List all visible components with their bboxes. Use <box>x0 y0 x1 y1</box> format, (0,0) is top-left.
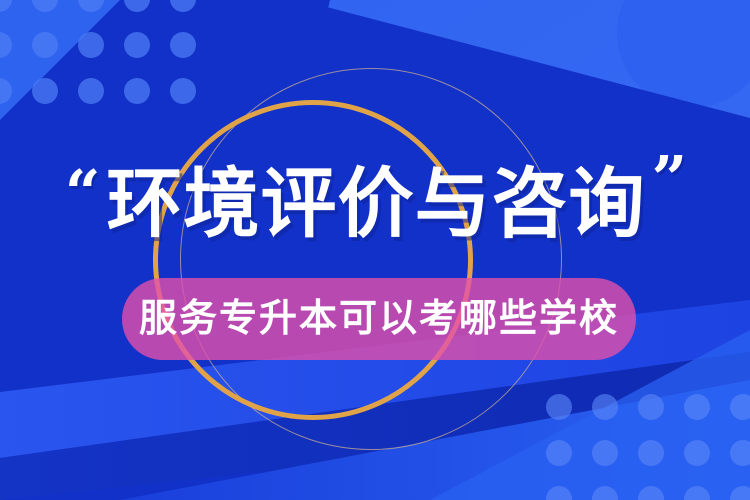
headline-row: “ 环境评价与咨询 ” <box>0 146 750 264</box>
dot <box>170 78 196 104</box>
opening-quote-mark: “ <box>65 162 99 224</box>
subtitle-pill: 服务专升本可以考哪些学校 <box>122 278 636 360</box>
dot <box>32 32 58 58</box>
subtitle-text: 服务专升本可以考哪些学校 <box>139 300 619 338</box>
dot <box>78 78 104 104</box>
dot <box>730 394 750 420</box>
dot <box>638 394 664 420</box>
dot <box>0 0 12 12</box>
dot <box>170 0 196 12</box>
dot <box>546 394 572 420</box>
closing-quote-mark: ” <box>652 148 686 210</box>
dot <box>32 0 58 12</box>
dot <box>638 440 664 466</box>
dot <box>730 486 750 500</box>
dot <box>546 440 572 466</box>
dot <box>78 32 104 58</box>
dot <box>638 486 664 500</box>
dot <box>684 486 710 500</box>
dot <box>684 394 710 420</box>
dot <box>0 78 12 104</box>
dot <box>124 0 150 12</box>
dot <box>592 440 618 466</box>
dot <box>684 440 710 466</box>
dot <box>78 0 104 12</box>
dot <box>124 78 150 104</box>
promo-banner: “ 环境评价与咨询 ” 服务专升本可以考哪些学校 <box>0 0 750 500</box>
dot <box>0 32 12 58</box>
dot <box>592 486 618 500</box>
dot-grid-top-left <box>0 0 200 108</box>
dot <box>124 32 150 58</box>
dot-grid-bottom-right <box>546 394 750 500</box>
page-title: 环境评价与咨询 <box>107 167 646 243</box>
dot <box>170 32 196 58</box>
dot <box>546 486 572 500</box>
dot <box>592 394 618 420</box>
dot <box>730 440 750 466</box>
dot <box>32 78 58 104</box>
